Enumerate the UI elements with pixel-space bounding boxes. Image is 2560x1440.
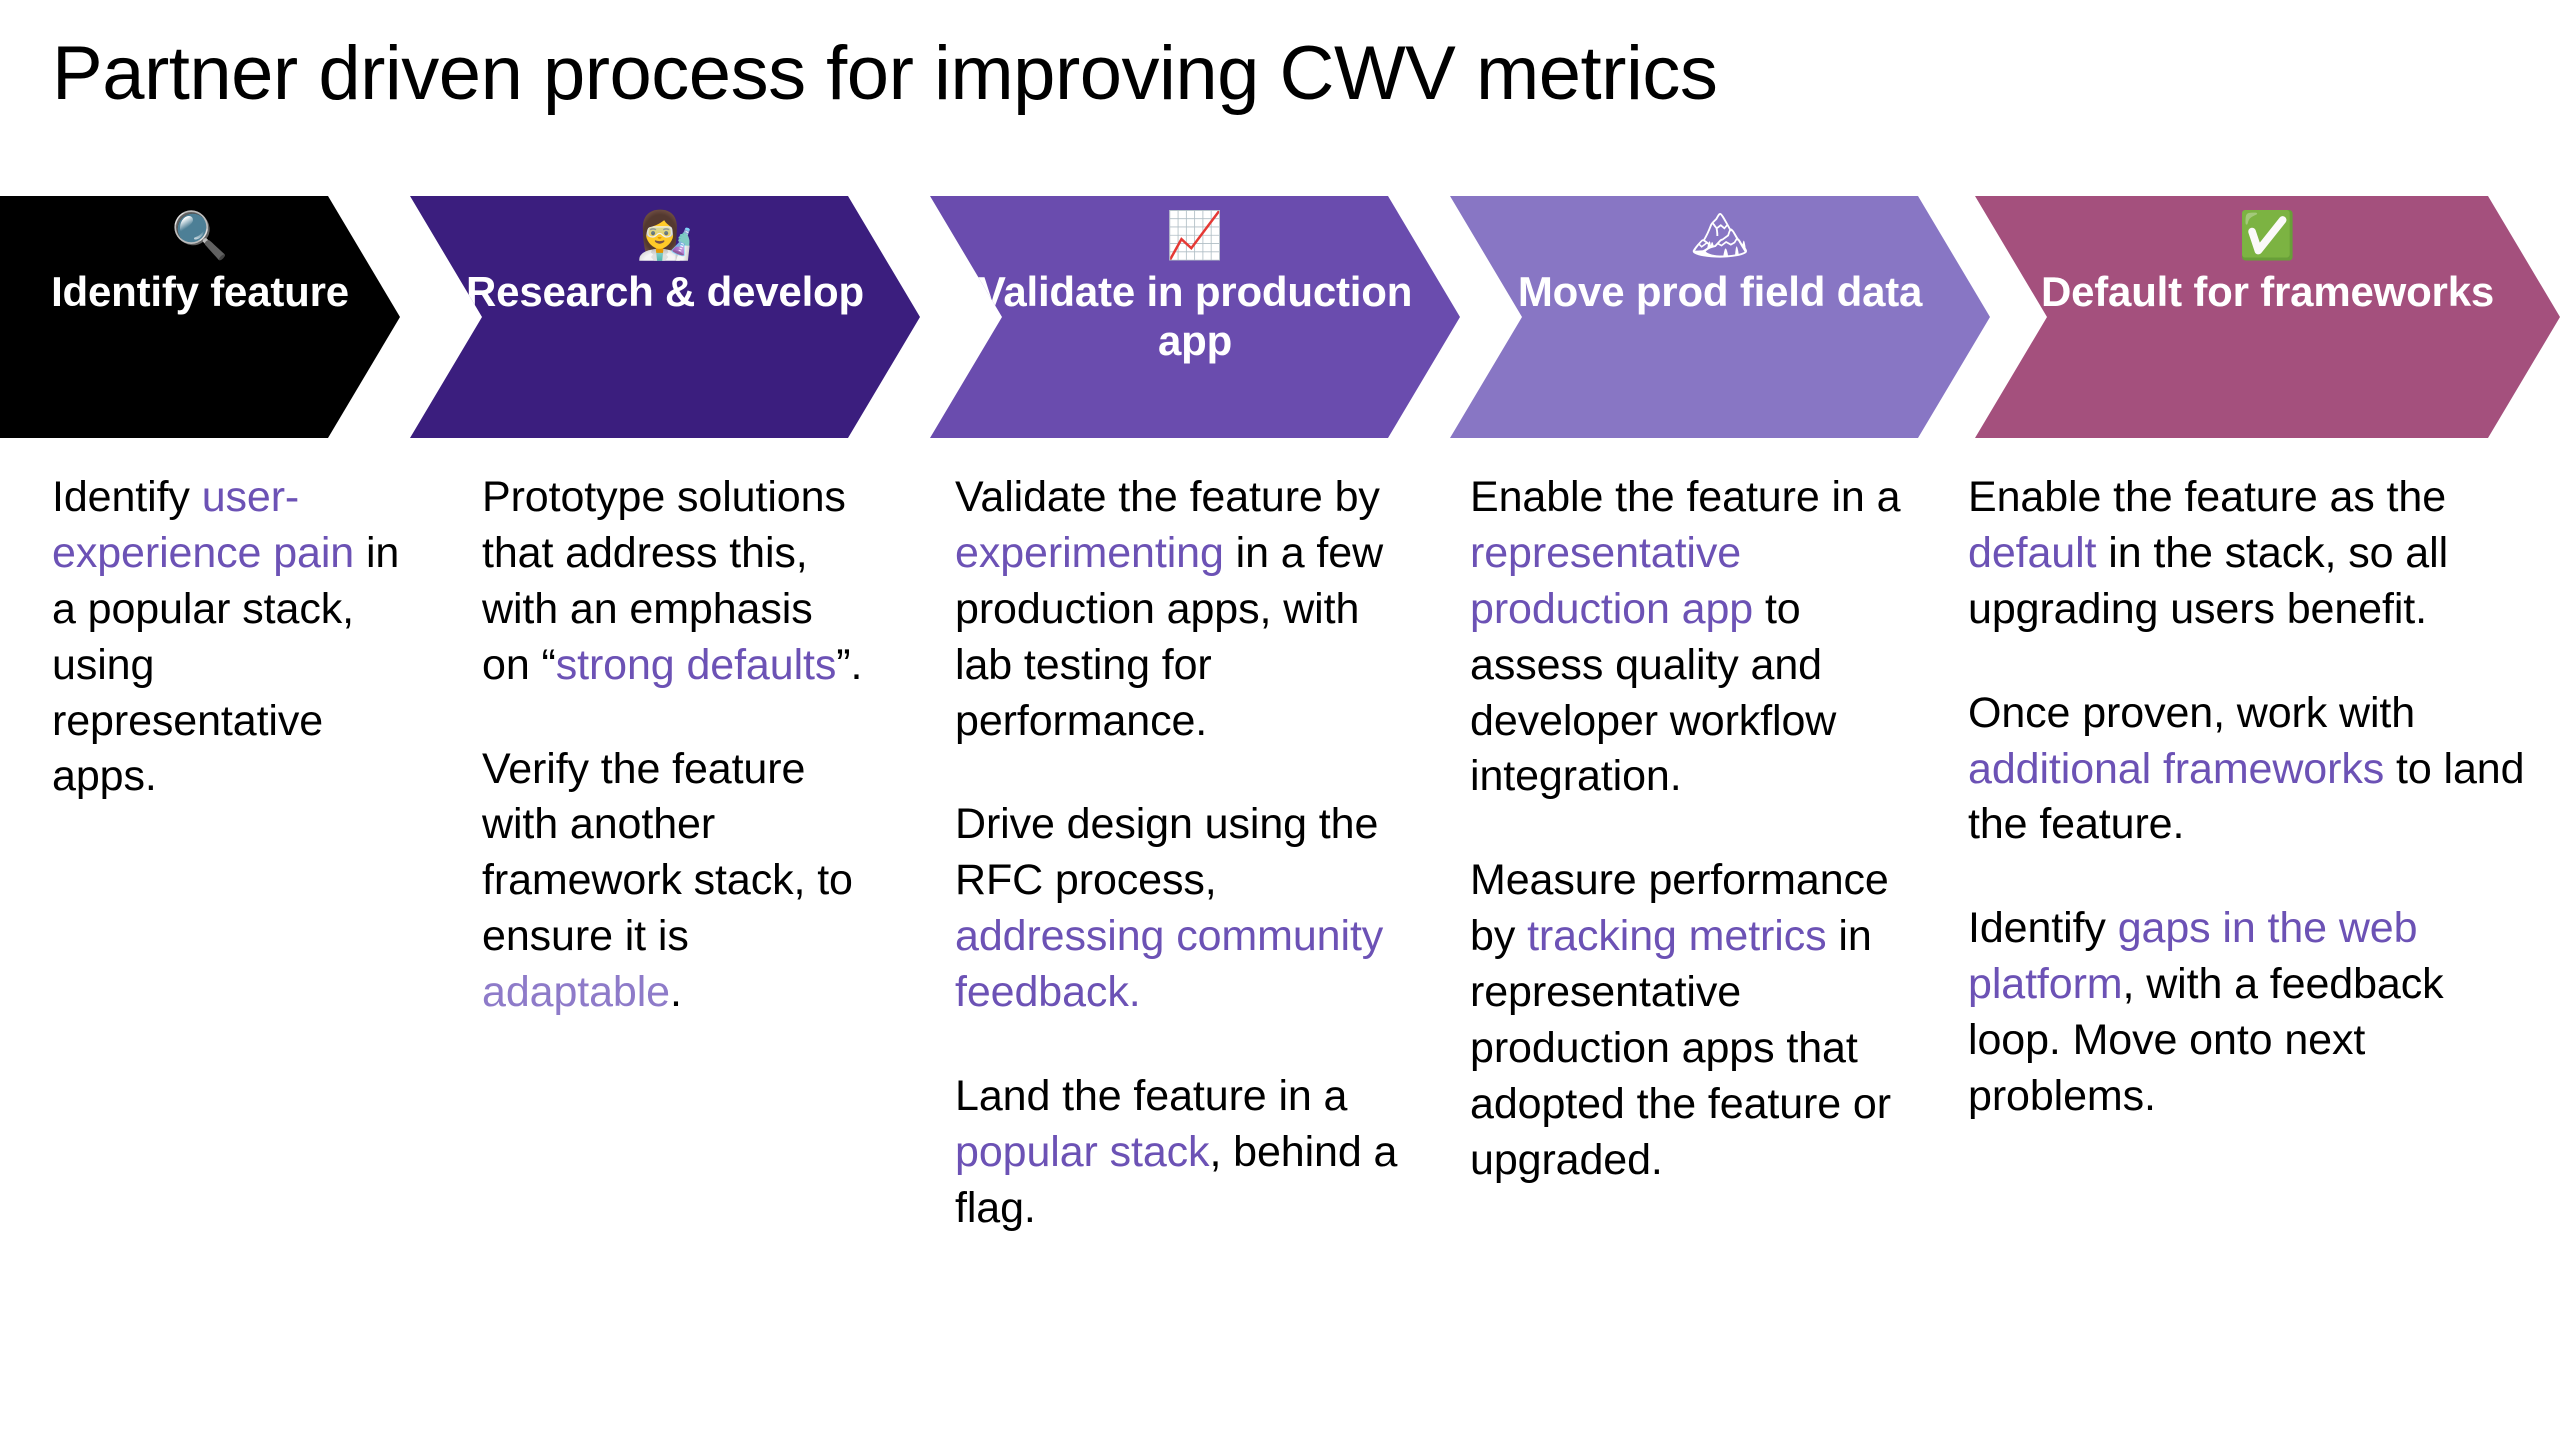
highlighted-text-run: popular stack: [955, 1128, 1209, 1176]
text-run: Land the feature in a: [955, 1072, 1347, 1120]
text-run: .: [670, 968, 682, 1016]
highlighted-text-run: adaptable: [482, 968, 670, 1016]
stage-paragraph: Identify user-experience pain in a popul…: [52, 470, 422, 805]
magnifying-glass-icon: 🔍: [171, 210, 228, 262]
check-mark-button-icon: ✅: [2239, 210, 2296, 262]
slide-root: Partner driven process for improving CWV…: [0, 0, 2560, 1440]
text-run: Enable the feature in a: [1470, 473, 1900, 521]
stage-description-validate-in-production-app: Validate the feature by experimenting in…: [955, 470, 1425, 1237]
highlighted-text-run: additional frameworks: [1968, 745, 2384, 793]
highlighted-text-run: representative production app: [1470, 529, 1753, 633]
highlighted-text-run: experimenting: [955, 529, 1224, 577]
page-title: Partner driven process for improving CWV…: [52, 34, 2452, 115]
highlighted-text-run: addressing community feedback.: [955, 912, 1383, 1016]
process-chevron-band: 🔍Identify feature👩‍🔬Research & develop📈V…: [0, 196, 2560, 438]
process-stage-label: Move prod field data: [1490, 268, 1950, 317]
chart-increasing-icon: 📈: [1166, 210, 1223, 262]
process-stage-research-develop[interactable]: 👩‍🔬Research & develop: [410, 196, 920, 438]
stage-description-research-develop: Prototype solutions that address this, w…: [482, 470, 872, 1021]
process-stage-label: Default for frameworks: [2013, 268, 2522, 317]
highlighted-text-run: default: [1968, 529, 2096, 577]
stage-description-default-for-frameworks: Enable the feature as the default in the…: [1968, 470, 2528, 1125]
text-run: Identify: [1968, 904, 2118, 952]
highlighted-text-run: strong defaults: [556, 641, 837, 689]
stage-paragraph: Enable the feature in a representative p…: [1470, 470, 1925, 805]
process-stage-label: Validate in production app: [930, 268, 1460, 365]
stage-paragraph: Land the feature in a popular stack, beh…: [955, 1069, 1425, 1237]
woman-scientist-icon: 👩‍🔬: [636, 210, 693, 262]
stage-paragraph: Validate the feature by experimenting in…: [955, 470, 1425, 749]
text-run: Enable the feature as the: [1968, 473, 2446, 521]
process-stage-label: Research & develop: [438, 268, 892, 317]
stage-paragraph: Measure performance by tracking metrics …: [1470, 853, 1925, 1188]
stage-paragraph: Once proven, work with additional framew…: [1968, 686, 2528, 854]
process-stage-identify-feature[interactable]: 🔍Identify feature: [0, 196, 400, 438]
process-description-columns: Identify user-experience pain in a popul…: [0, 470, 2560, 1370]
text-run: Verify the feature with another framewor…: [482, 745, 853, 961]
text-run: ”.: [836, 641, 862, 689]
stage-paragraph: Verify the feature with another framewor…: [482, 742, 872, 1021]
stage-paragraph: Identify gaps in the web platform, with …: [1968, 901, 2528, 1125]
text-run: Validate the feature by: [955, 473, 1380, 521]
stage-description-identify-feature: Identify user-experience pain in a popul…: [52, 470, 422, 805]
text-run: Identify: [52, 473, 202, 521]
stage-paragraph: Drive design using the RFC process, addr…: [955, 797, 1425, 1021]
stage-description-move-prod-field-data: Enable the feature in a representative p…: [1470, 470, 1925, 1189]
process-stage-label: Identify feature: [23, 268, 377, 317]
stage-paragraph: Enable the feature as the default in the…: [1968, 470, 2528, 638]
process-stage-validate-in-production-app[interactable]: 📈Validate in production app: [930, 196, 1460, 438]
snow-capped-mountain-icon: 🏔: [1691, 210, 1749, 262]
process-stage-default-for-frameworks[interactable]: ✅Default for frameworks: [1975, 196, 2560, 438]
text-run: Once proven, work with: [1968, 689, 2415, 737]
highlighted-text-run: tracking metrics: [1527, 912, 1826, 960]
stage-paragraph: Prototype solutions that address this, w…: [482, 470, 872, 694]
process-stage-move-prod-field-data[interactable]: 🏔Move prod field data: [1450, 196, 1990, 438]
text-run: Drive design using the RFC process,: [955, 800, 1378, 904]
